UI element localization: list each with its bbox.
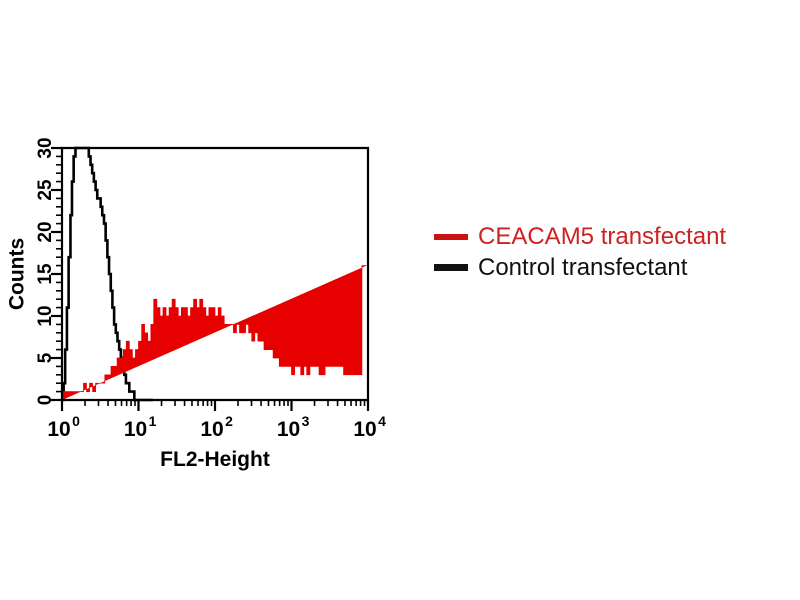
x-tick-label-mantissa: 10 <box>124 418 147 441</box>
x-axis-title: FL2-Height <box>160 448 270 471</box>
x-tick-label-exponent: 4 <box>378 413 386 429</box>
x-tick-label-exponent: 3 <box>302 413 310 429</box>
x-tick-label-exponent: 1 <box>149 413 157 429</box>
legend-item-ceacam5: CEACAM5 transfectant <box>434 221 794 252</box>
legend-item-control: Control transfectant <box>434 252 794 283</box>
x-tick-label: 104 <box>353 413 386 441</box>
y-tick-label: 10 <box>35 305 56 326</box>
y-tick-label: 25 <box>35 179 56 201</box>
y-tick-label: 20 <box>35 221 56 242</box>
histogram-chart: 051015202530Counts100101102103104FL2-Hei… <box>0 120 420 480</box>
y-tick-label: 15 <box>35 263 56 285</box>
x-tick-label: 100 <box>47 413 80 441</box>
x-tick-label-exponent: 0 <box>72 413 80 429</box>
x-tick-label-mantissa: 10 <box>200 418 223 441</box>
plot-area: 051015202530Counts100101102103104FL2-Hei… <box>0 120 420 480</box>
y-axis-title: Counts <box>6 238 29 310</box>
trace-ceacam5-transfectant <box>62 266 366 400</box>
legend-label-control: Control transfectant <box>478 254 687 282</box>
legend-line-swatch-red-icon <box>434 234 468 240</box>
x-tick-label: 101 <box>124 413 157 441</box>
y-tick-label: 0 <box>35 395 56 406</box>
x-tick-label: 103 <box>277 413 310 441</box>
legend-label-ceacam5: CEACAM5 transfectant <box>478 223 726 251</box>
x-tick-label-exponent: 2 <box>225 413 233 429</box>
flow-cytometry-figure: 051015202530Counts100101102103104FL2-Hei… <box>0 0 800 600</box>
x-tick-label-mantissa: 10 <box>277 418 300 441</box>
x-tick-label-mantissa: 10 <box>47 418 70 441</box>
x-tick-label: 102 <box>200 413 233 441</box>
legend-line-swatch-black-icon <box>434 264 468 271</box>
y-tick-label: 5 <box>35 352 56 363</box>
y-tick-label: 30 <box>35 137 56 158</box>
x-tick-label-mantissa: 10 <box>353 418 376 441</box>
chart-legend: CEACAM5 transfectant Control transfectan… <box>434 221 794 283</box>
